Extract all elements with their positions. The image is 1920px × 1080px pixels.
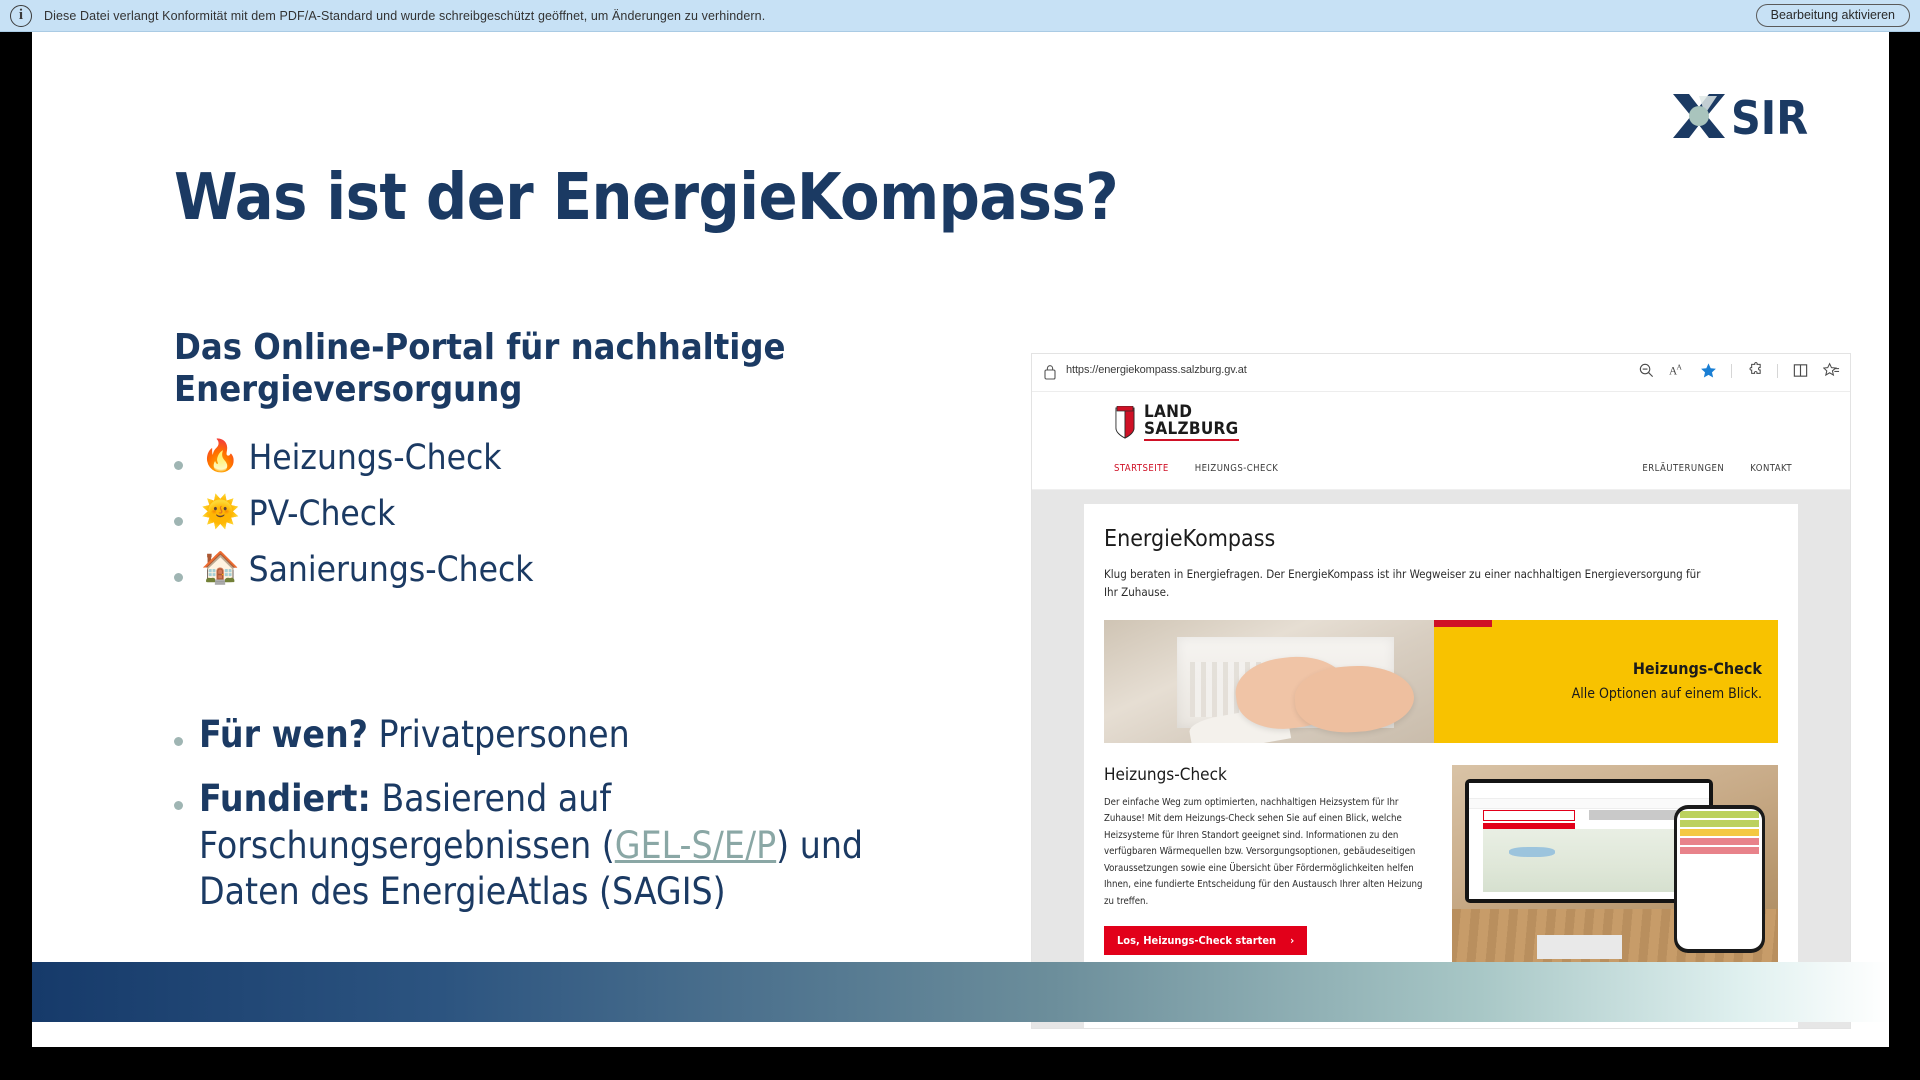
list-item: Fundiert: Basierend auf Forschungsergebn… [174, 776, 974, 915]
list-item-label: Heizungs-Check [249, 437, 502, 481]
list-item: Für wen? Privatpersonen [174, 712, 974, 758]
list-item: 🏠 Sanierungs-Check [174, 549, 934, 593]
start-heizungs-check-button[interactable]: Los, Heizungs-Check starten › [1104, 926, 1307, 955]
hero-callout-card[interactable]: Heizungs-Check Alle Optionen auf einem B… [1434, 620, 1778, 743]
presentation-slide: SIR Was ist der EnergieKompass? Das Onli… [32, 32, 1889, 1047]
phone-screen [1677, 809, 1762, 949]
hero-card-subtitle: Alle Optionen auf einem Blick. [1572, 685, 1762, 704]
mock-site-nav [1469, 799, 1709, 809]
site-header: LAND SALZBURG [1032, 392, 1850, 454]
list-item-label: Fundiert: Basierend auf Forschungsergebn… [199, 776, 974, 915]
slide-footer-band [32, 962, 1889, 1022]
content-card: EnergieKompass Klug beraten in Energiefr… [1084, 504, 1798, 1028]
bullet-dot-icon [174, 737, 183, 746]
checks-list: 🔥 Heizungs-Check 🌞 PV-Check 🏠 Sanierungs… [174, 437, 934, 604]
brand-line-2: SALZBURG [1144, 421, 1239, 441]
page-title: Was ist der EnergieKompass? [174, 165, 1274, 232]
phone-row-red [1680, 838, 1759, 845]
hero-banner: Heizungs-Check Alle Optionen auf einem B… [1104, 620, 1778, 743]
gel-sep-link[interactable]: GEL-S/E/P [615, 824, 776, 867]
facts-list: Für wen? Privatpersonen Fundiert: Basier… [174, 712, 974, 933]
fact-label: Für wen? [199, 713, 368, 756]
house-icon: 🏠 [201, 549, 240, 588]
nav-primary-group: STARTSEITE HEIZUNGS-CHECK [1114, 463, 1278, 474]
nav-item-erlaeuterungen[interactable]: ERLÄUTERUNGEN [1642, 463, 1724, 474]
list-item-label: Sanierungs-Check [249, 549, 534, 593]
phone-row-yellow [1680, 829, 1759, 836]
monitor-screen [1469, 783, 1709, 899]
content-subtitle: Klug beraten in Energiefragen. Der Energ… [1104, 566, 1704, 602]
zoom-out-icon[interactable] [1638, 362, 1655, 379]
pdf-protected-view-bar: i Diese Datei verlangt Konformität mit d… [0, 0, 1920, 32]
device-mockup-photo [1452, 765, 1778, 965]
read-aloud-icon[interactable]: A A [1669, 362, 1686, 379]
browser-toolbar: https://energiekompass.salzburg.gv.at A … [1032, 354, 1850, 392]
sun-icon: 🌞 [201, 493, 240, 532]
mock-map [1483, 829, 1694, 892]
split-screen-icon[interactable] [1792, 362, 1809, 379]
section-row: Heizungs-Check Der einfache Weg zum opti… [1104, 765, 1778, 965]
list-item: 🔥 Heizungs-Check [174, 437, 934, 481]
enable-editing-button[interactable]: Bearbeitung aktivieren [1756, 4, 1910, 27]
section-body: Der einfache Weg zum optimierten, nachha… [1104, 795, 1434, 911]
phone-row-green [1680, 820, 1759, 827]
bullet-dot-icon [174, 461, 183, 470]
info-icon: i [10, 5, 32, 27]
nav-item-startseite[interactable]: STARTSEITE [1114, 463, 1169, 474]
fact-value: Privatpersonen [368, 713, 630, 756]
list-item-label: Für wen? Privatpersonen [199, 712, 630, 758]
browser-toolbar-icons: A A [1638, 362, 1840, 379]
bullet-dot-icon [174, 801, 183, 810]
slide-lead-heading: Das Online-Portal für nachhaltige Energi… [174, 327, 874, 412]
hero-card-title: Heizungs-Check [1633, 659, 1762, 678]
nav-item-heizungs-check[interactable]: HEIZUNGS-CHECK [1195, 463, 1279, 474]
smartphone [1674, 805, 1765, 953]
radiator-hands-photo [1104, 620, 1434, 743]
mock-site-header [1469, 783, 1709, 799]
address-bar-url[interactable]: https://energiekompass.salzburg.gv.at [1066, 364, 1247, 376]
land-salzburg-logo[interactable]: LAND SALZBURG [1114, 404, 1239, 441]
nav-item-kontakt[interactable]: KONTAKT [1750, 463, 1792, 474]
sir-wordmark: SIR [1731, 91, 1808, 142]
site-info-icon[interactable] [1044, 365, 1056, 380]
phone-row-red [1680, 847, 1759, 854]
list-item: 🌞 PV-Check [174, 493, 934, 537]
extensions-icon[interactable] [1746, 362, 1763, 379]
site-navigation: STARTSEITE HEIZUNGS-CHECK ERLÄUTERUNGEN … [1032, 454, 1850, 490]
content-title: EnergieKompass [1104, 526, 1778, 552]
favorite-star-icon[interactable] [1700, 362, 1717, 379]
monitor-stand [1537, 935, 1622, 959]
salzburg-coat-of-arms-icon [1114, 406, 1136, 440]
section-title: Heizungs-Check [1104, 765, 1434, 785]
fire-icon: 🔥 [201, 437, 240, 476]
red-accent-bar [1434, 620, 1492, 627]
chevron-right-icon: › [1290, 934, 1294, 947]
collections-icon[interactable] [1823, 362, 1840, 379]
sir-logo: SIR [1669, 90, 1839, 142]
nav-secondary-group: ERLÄUTERUNGEN KONTAKT [1642, 463, 1792, 474]
browser-screenshot: https://energiekompass.salzburg.gv.at A … [1032, 354, 1850, 1028]
list-item-label: PV-Check [249, 493, 396, 537]
bullet-dot-icon [174, 573, 183, 582]
cta-label: Los, Heizungs-Check starten [1117, 934, 1276, 947]
svg-text:A: A [1677, 363, 1683, 372]
protected-view-message: Diese Datei verlangt Konformität mit dem… [44, 9, 765, 23]
toolbar-divider [1731, 364, 1732, 378]
land-salzburg-wordmark: LAND SALZBURG [1144, 404, 1239, 441]
section-text-column: Heizungs-Check Der einfache Weg zum opti… [1104, 765, 1434, 965]
pdf-document-viewport[interactable]: SIR Was ist der EnergieKompass? Das Onli… [0, 32, 1920, 1080]
phone-row-green [1680, 811, 1759, 818]
mock-address-input [1483, 810, 1574, 820]
sir-x-mark [1673, 94, 1725, 138]
site-content-area: EnergieKompass Klug beraten in Energiefr… [1032, 490, 1850, 1028]
bullet-dot-icon [174, 517, 183, 526]
fact-label: Fundiert: [199, 777, 371, 820]
toolbar-divider [1777, 364, 1778, 378]
